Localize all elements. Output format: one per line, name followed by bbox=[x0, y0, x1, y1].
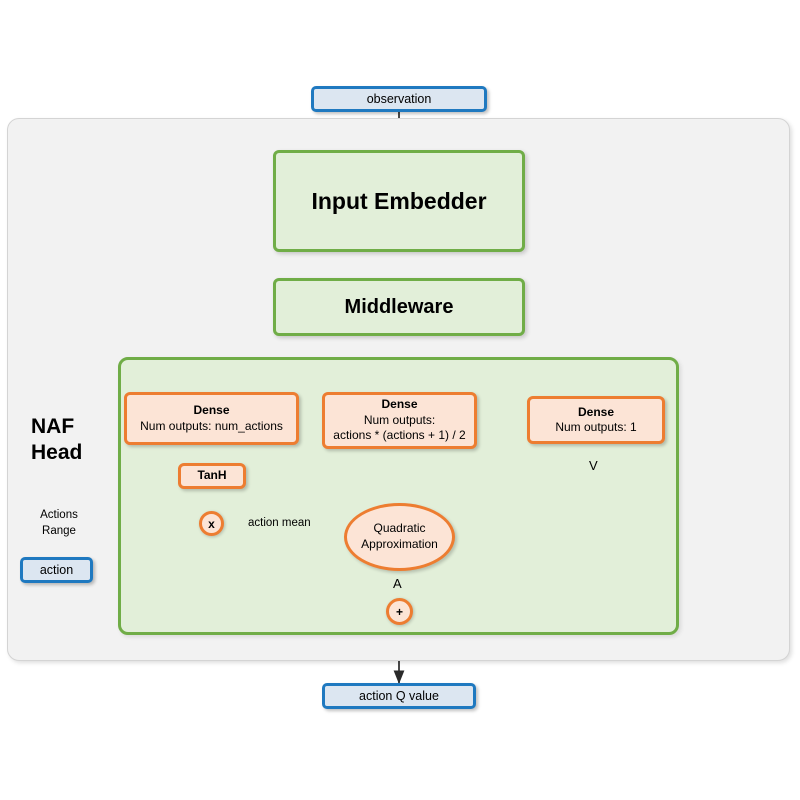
dense-mean-title: Dense bbox=[193, 403, 229, 418]
dense-l-formula: actions * (actions + 1) / 2 bbox=[333, 428, 465, 443]
observation-node[interactable]: observation bbox=[311, 86, 487, 112]
observation-label: observation bbox=[367, 92, 432, 106]
middleware-label: Middleware bbox=[345, 296, 454, 319]
naf-head-title-line1: NAF bbox=[31, 414, 121, 440]
tanh-node[interactable]: TanH bbox=[178, 463, 246, 489]
dense-mean-outputs: Num outputs: num_actions bbox=[140, 419, 283, 434]
action-label: action bbox=[40, 563, 73, 577]
naf-head-title: NAF Head bbox=[31, 414, 121, 467]
add-operator-node[interactable]: + bbox=[386, 598, 413, 625]
dense-l-node[interactable]: Dense Num outputs: actions * (actions + … bbox=[322, 392, 477, 449]
dense-l-outputs: Num outputs: bbox=[364, 413, 435, 428]
naf-head-title-line2: Head bbox=[31, 440, 121, 466]
action-q-value-node[interactable]: action Q value bbox=[322, 683, 476, 709]
action-q-value-label: action Q value bbox=[359, 689, 439, 703]
quadratic-line2: Approximation bbox=[361, 537, 438, 553]
actions-range-label: Actions Range bbox=[25, 508, 93, 539]
action-node[interactable]: action bbox=[20, 557, 93, 583]
add-label: + bbox=[396, 605, 403, 619]
multiply-label: x bbox=[208, 517, 215, 531]
actions-range-line2: Range bbox=[25, 524, 93, 540]
input-embedder-node[interactable]: Input Embedder bbox=[273, 150, 525, 252]
action-mean-edge-label: action mean bbox=[248, 517, 311, 529]
quadratic-line1: Quadratic bbox=[373, 521, 425, 537]
actions-range-line1: Actions bbox=[25, 508, 93, 524]
dense-mean-node[interactable]: Dense Num outputs: num_actions bbox=[124, 392, 299, 445]
multiply-operator-node[interactable]: x bbox=[199, 511, 224, 536]
dense-v-title: Dense bbox=[578, 405, 614, 420]
quadratic-approximation-node[interactable]: Quadratic Approximation bbox=[344, 503, 455, 571]
input-embedder-label: Input Embedder bbox=[311, 188, 486, 215]
advantage-edge-label: A bbox=[393, 576, 402, 591]
dense-v-outputs: Num outputs: 1 bbox=[555, 420, 636, 435]
dense-v-node[interactable]: Dense Num outputs: 1 bbox=[527, 396, 665, 444]
value-edge-label: V bbox=[589, 458, 598, 473]
tanh-label: TanH bbox=[197, 468, 226, 483]
dense-l-title: Dense bbox=[381, 397, 417, 412]
middleware-node[interactable]: Middleware bbox=[273, 278, 525, 336]
